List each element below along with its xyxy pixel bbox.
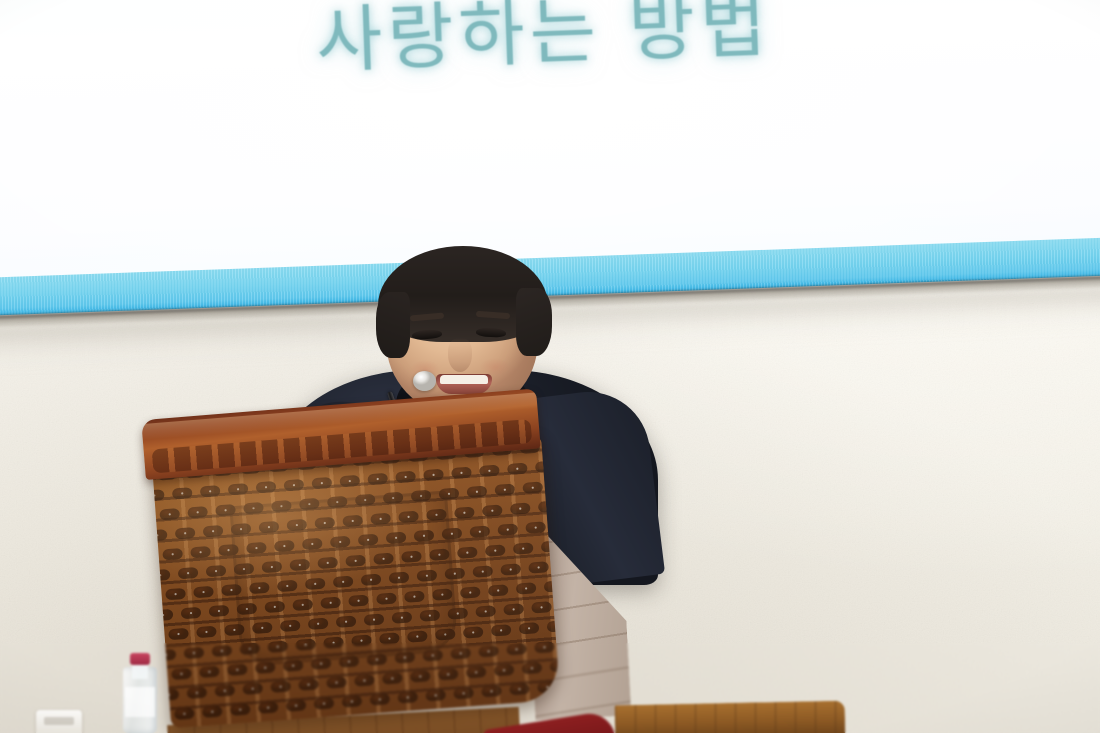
water-bottle-cap [130, 653, 150, 665]
speaker-hair-right-side [516, 288, 552, 356]
speaker-teeth [440, 375, 488, 384]
water-bottle-label [125, 687, 155, 717]
speaker-nose [448, 338, 472, 372]
speaker-hair-left-side [376, 292, 410, 358]
speaker-mouth [436, 374, 492, 394]
podium-inset-panel [229, 490, 458, 667]
wooden-floor-board [615, 701, 846, 733]
water-bottle [123, 651, 157, 733]
outlet-slot [44, 717, 74, 725]
water-bottle-neck [132, 663, 148, 679]
podium [140, 420, 615, 733]
microphone-head [413, 371, 436, 391]
podium-front-face [152, 435, 560, 728]
electrical-outlet [36, 710, 82, 733]
photo-scene: 사랑하는 방법 [0, 0, 1100, 733]
